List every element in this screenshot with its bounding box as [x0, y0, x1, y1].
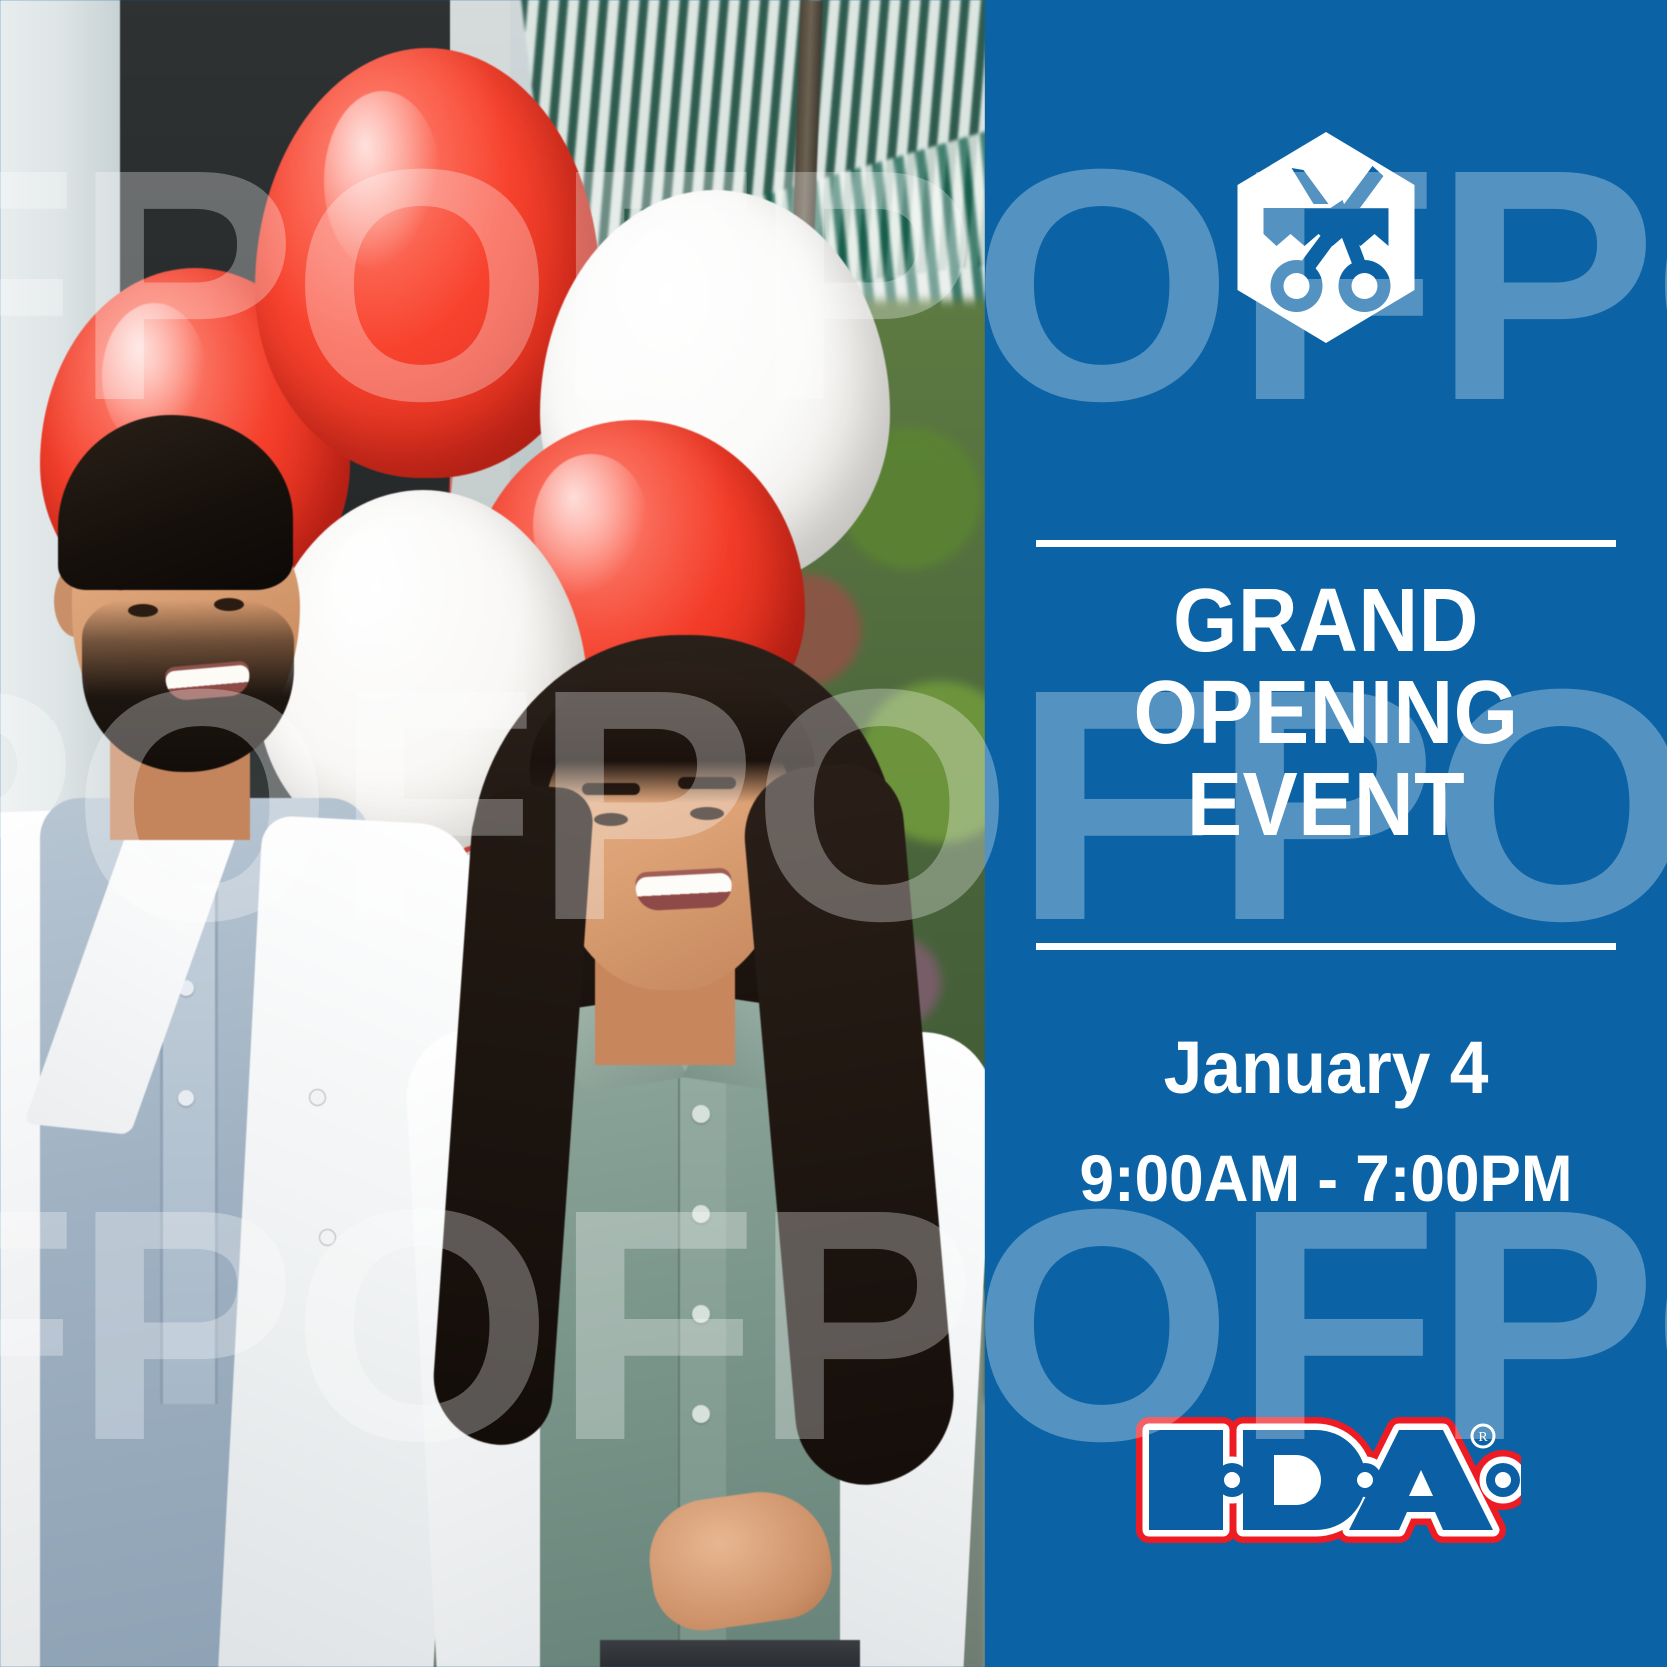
eye: [128, 604, 158, 617]
trousers: [600, 1640, 860, 1667]
blouse-button: [692, 1105, 710, 1123]
ribbon-cutting-scissors-hexagon-icon: [1234, 130, 1419, 345]
divider-bottom: [1036, 943, 1616, 950]
page-title: GRAND OPENING EVENT: [1012, 576, 1639, 851]
eye: [214, 598, 244, 611]
blouse-button: [692, 1405, 710, 1423]
headline-line-1: GRAND: [1012, 576, 1639, 668]
female-pharmacist: [400, 605, 980, 1667]
blouse-button: [692, 1205, 710, 1223]
info-panel: GRAND OPENING EVENT January 4 9:00AM - 7…: [985, 0, 1667, 1667]
headline-line-2: OPENING: [1012, 668, 1639, 760]
shirt-button: [178, 1090, 194, 1106]
poster-canvas: GRAND OPENING EVENT January 4 9:00AM - 7…: [0, 0, 1667, 1667]
coat-button: [320, 1230, 335, 1245]
coat-button: [310, 1090, 325, 1105]
event-date: January 4: [1005, 1025, 1646, 1110]
ida-logo: R: [1131, 1400, 1521, 1560]
event-time: 9:00AM - 7:00PM: [1005, 1140, 1646, 1216]
smile: [635, 873, 733, 912]
headline-line-3: EVENT: [1012, 760, 1639, 852]
eye: [594, 813, 628, 826]
event-photo: [0, 0, 985, 1667]
registered-trademark-symbol: R: [1478, 1430, 1488, 1445]
male-pharmacist: [10, 400, 440, 1667]
divider-top: [1036, 540, 1616, 547]
blouse-button: [692, 1305, 710, 1323]
hair: [58, 415, 293, 590]
eye: [690, 807, 724, 820]
